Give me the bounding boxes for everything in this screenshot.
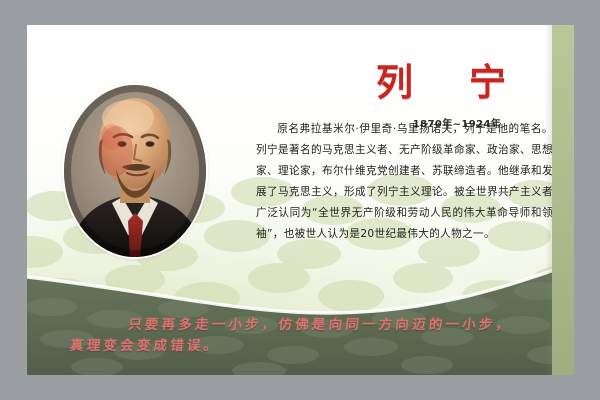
lenin-poster: 列宁 1870年~1924年 原名弗拉基米尔·伊里奇·乌里扬诺夫，列宁是他的笔名… [27, 25, 574, 375]
lenin-portrait [64, 85, 206, 257]
title-char-right: 宁 [469, 60, 508, 104]
quote-line-2: 真理变会变成错误。 [69, 336, 541, 357]
quote-block: 只要再多走一小步，仿佛是向同一方向迈的一小步， 真理变会变成错误。 [69, 315, 543, 357]
quote-line-1: 只要再多走一小步，仿佛是向同一方向迈的一小步， [71, 315, 543, 336]
title-char-left: 列 [376, 60, 415, 104]
page-title: 列宁 [327, 61, 557, 104]
screenshot-canvas: 列宁 1870年~1924年 原名弗拉基米尔·伊里奇·乌里扬诺夫，列宁是他的笔名… [0, 0, 600, 400]
biography-text: 原名弗拉基米尔·伊里奇·乌里扬诺夫，列宁是他的笔名。列宁是著名的马克思主义者、无… [256, 119, 553, 245]
